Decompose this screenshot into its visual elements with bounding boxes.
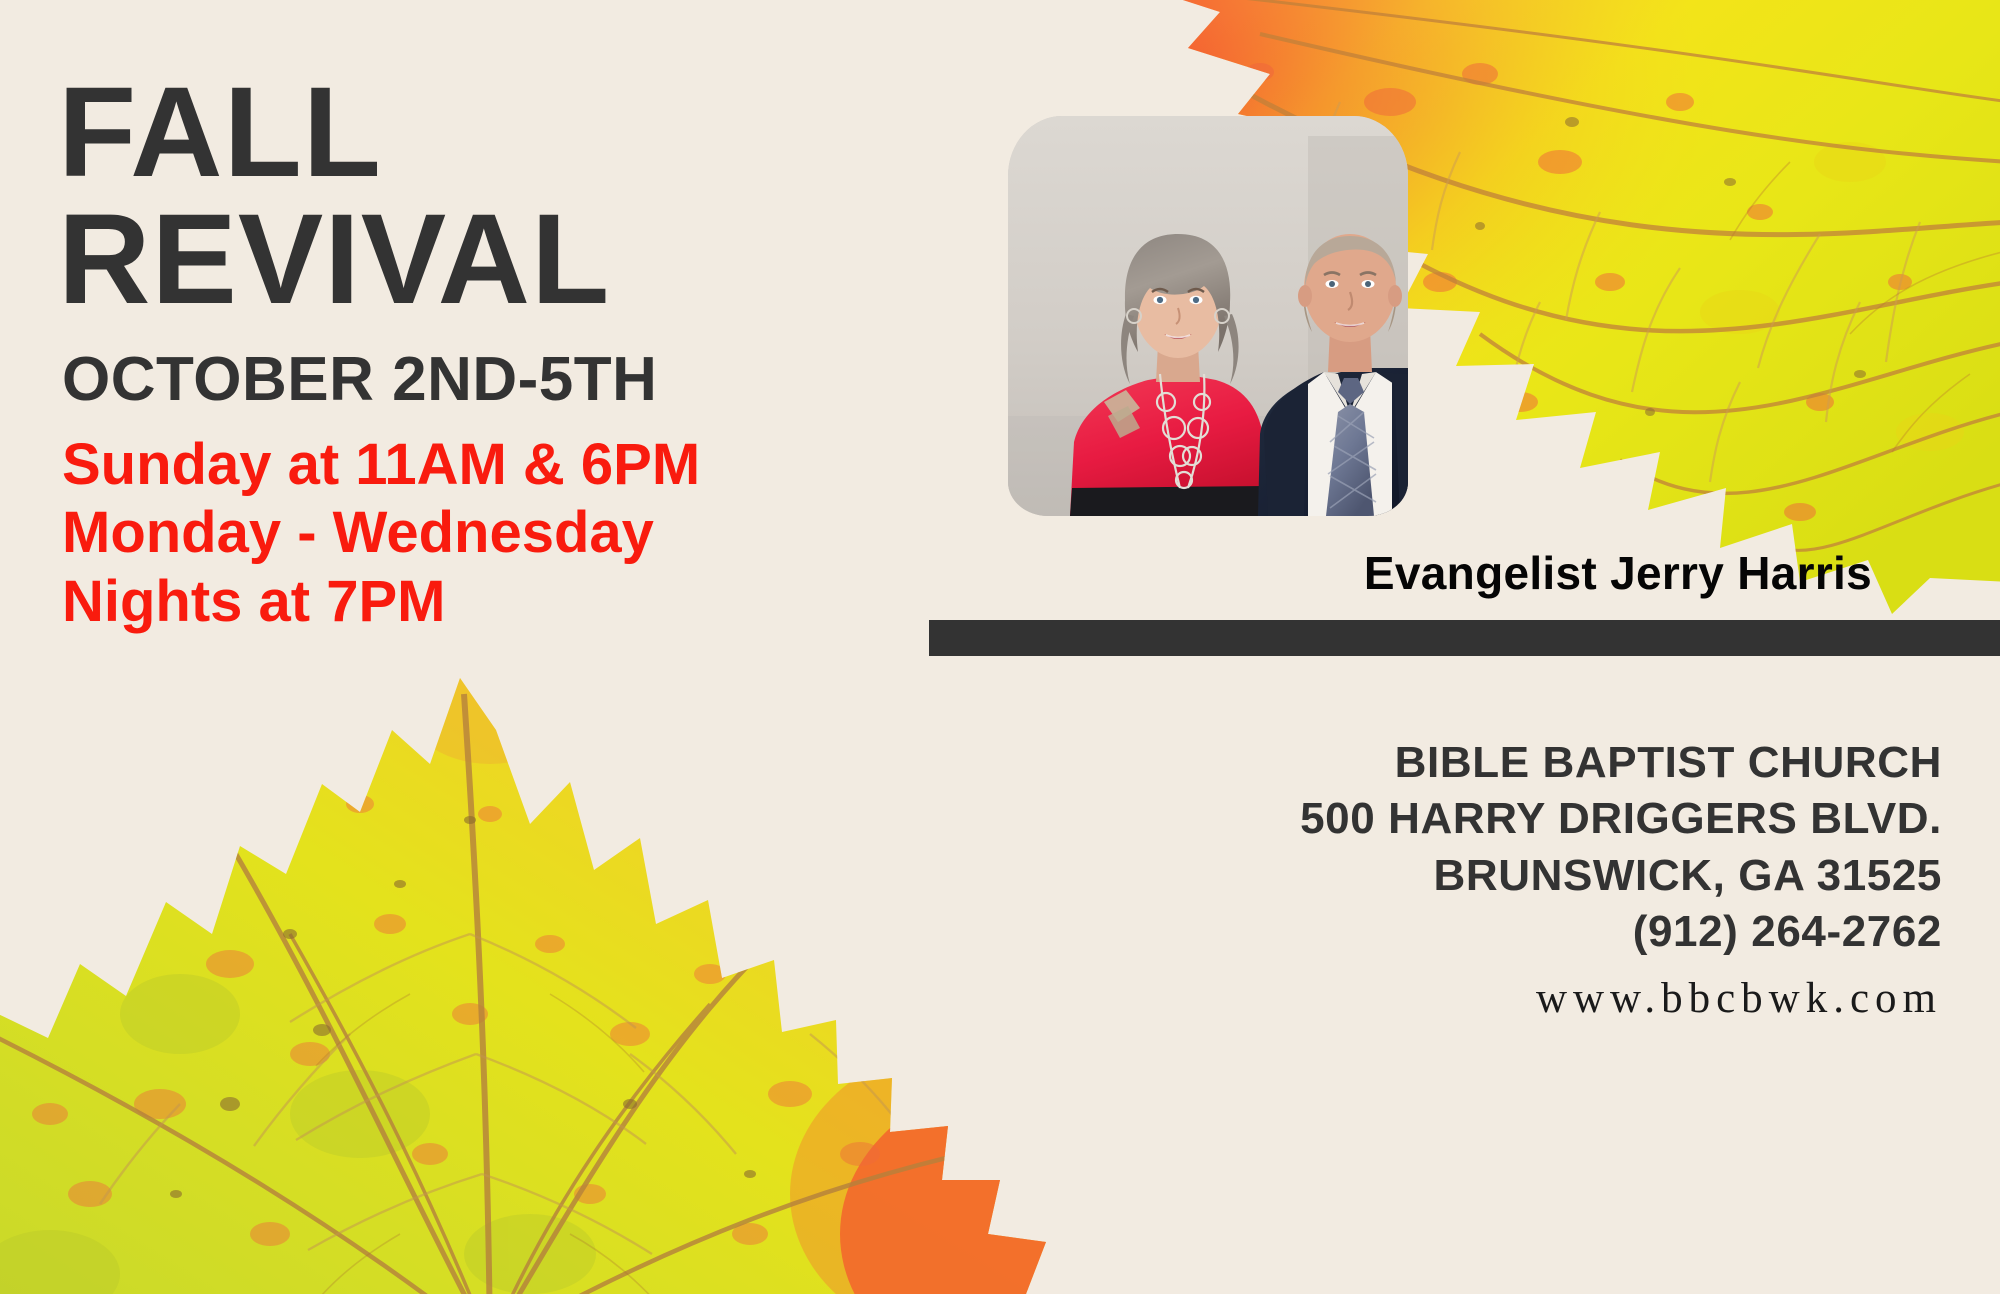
maple-leaf-icon [0,634,1160,1294]
divider-bar [929,620,2000,656]
church-street: 500 HARRY DRIGGERS BLVD. [1042,791,1942,847]
speaker-name: Evangelist Jerry Harris [930,546,1930,600]
church-name: BIBLE BAPTIST CHURCH [1042,735,1942,791]
event-time-line-2: Monday - Wednesday [62,499,938,567]
church-city-state-zip: BRUNSWICK, GA 31525 [1042,848,1942,904]
speaker-photo-svg [1008,116,1408,516]
event-time-line-3: Nights at 7PM [62,568,938,636]
page-title-line-1: FALL [58,72,938,195]
maple-leaf-bottom-left-svg [0,634,1160,1294]
church-phone: (912) 264-2762 [1042,904,1942,960]
speaker-photo [1008,116,1408,516]
church-website[interactable]: www.bbcbwk.com [1042,974,1942,1023]
headline-block: FALL REVIVAL OCTOBER 2ND-5TH Sunday at 1… [58,72,938,636]
page-title-line-2: REVIVAL [58,199,938,322]
event-time-line-1: Sunday at 11AM & 6PM [62,431,938,499]
poster-canvas: FALL REVIVAL OCTOBER 2ND-5TH Sunday at 1… [0,0,2000,1294]
event-dates: OCTOBER 2ND-5TH [62,344,938,415]
contact-block: BIBLE BAPTIST CHURCH 500 HARRY DRIGGERS … [1042,735,1942,1023]
